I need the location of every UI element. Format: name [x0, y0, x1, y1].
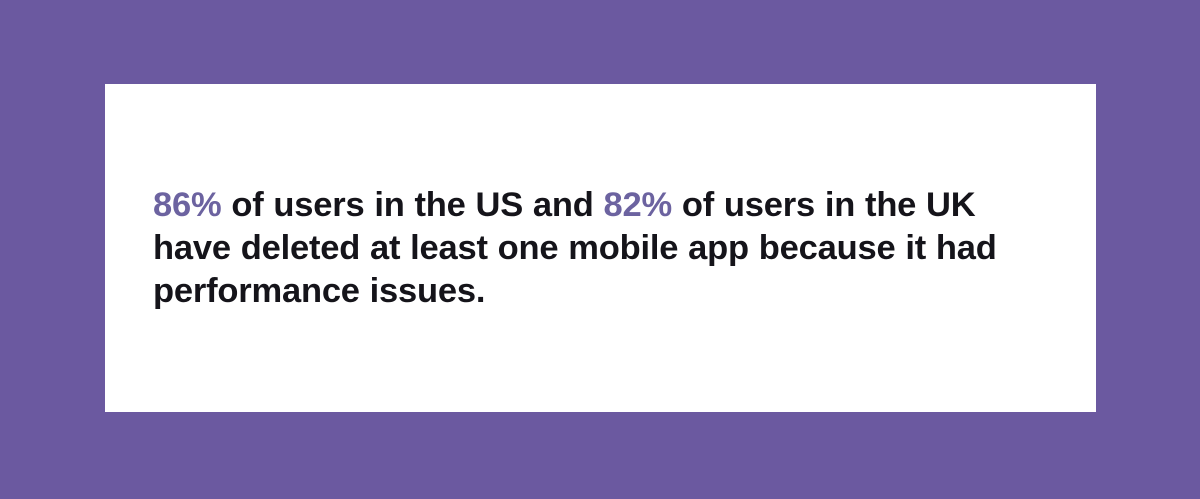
statement-text-part-1: of users in the US and	[221, 186, 603, 224]
statistic-statement: 86% of users in the US and 82% of users …	[153, 184, 1053, 313]
stat-percentage-us: 86%	[153, 186, 221, 224]
stat-card: 86% of users in the US and 82% of users …	[105, 84, 1096, 412]
slide-canvas: 86% of users in the US and 82% of users …	[0, 0, 1200, 499]
stat-percentage-uk: 82%	[604, 186, 672, 224]
